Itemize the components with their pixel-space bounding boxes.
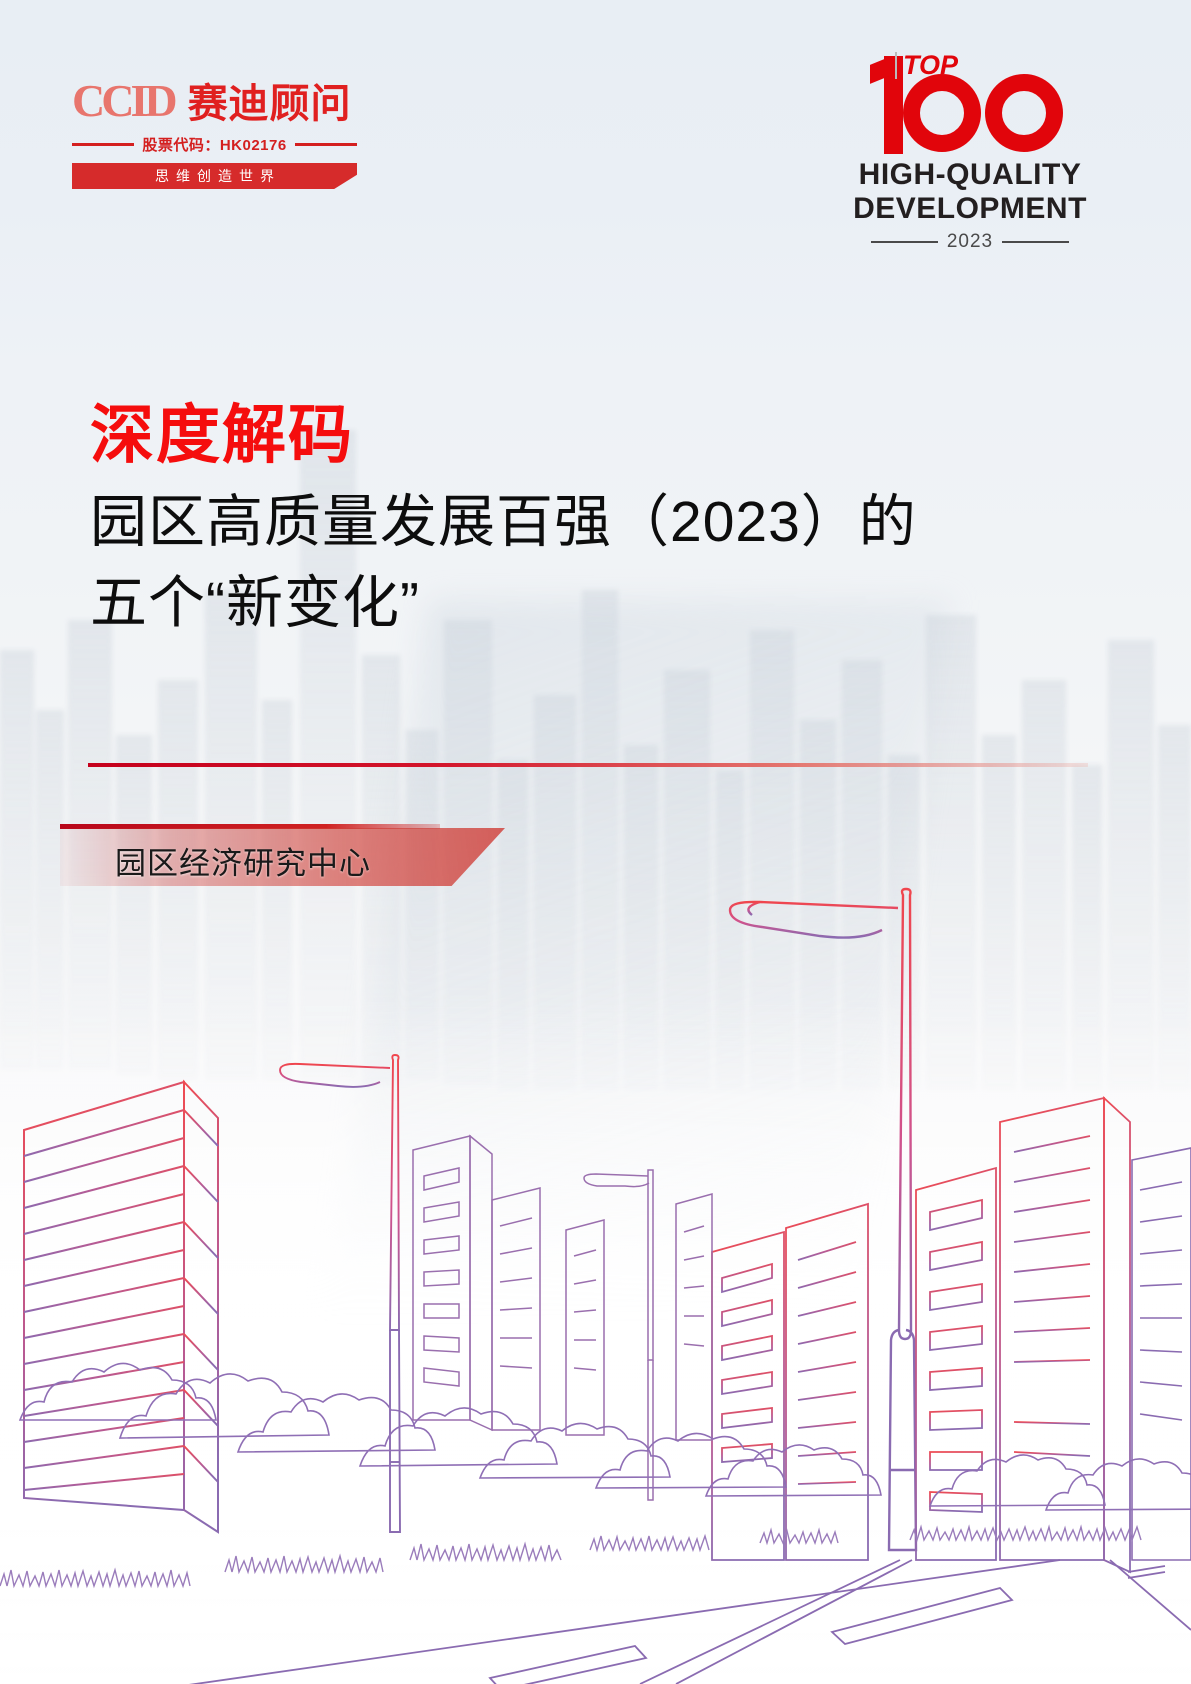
- cityscape-line-illustration: [0, 860, 1191, 1684]
- cover-title-block: 深度解码 园区高质量发展百强（2023）的 五个“新变化”: [90, 398, 1100, 644]
- buildings-far-right: [1132, 1148, 1191, 1560]
- ccid-latin-wordmark: CCID: [72, 78, 174, 124]
- logo-slogan-banner: 思维创造世界: [72, 163, 357, 189]
- badge-line-development: DEVELOPMENT: [845, 192, 1095, 226]
- street-lamp-medium-base: [390, 1330, 400, 1532]
- rule-right: [295, 143, 357, 146]
- badge-digit-zero-second: [985, 74, 1063, 152]
- street-lamp-large: [730, 889, 911, 1339]
- grass-line: [0, 1527, 1141, 1586]
- street-lamp-medium: [280, 1055, 399, 1330]
- stock-code-label: 股票代码：HK02176: [142, 134, 286, 155]
- logo-wordmark-row: CCID 赛迪顾问: [72, 78, 372, 124]
- road: [0, 1560, 1191, 1684]
- title-divider: [88, 763, 1088, 767]
- ccid-chinese-wordmark: 赛迪顾问: [188, 84, 352, 124]
- badge-number-group: TOP: [845, 48, 1095, 158]
- page-subtitle-line-1: 园区高质量发展百强（2023）的: [90, 482, 1100, 563]
- page-title-highlight: 深度解码: [90, 398, 1100, 472]
- top100-badge: TOP HIGH-QUALITY DEVELOPMENT 2023: [845, 48, 1095, 253]
- rule-left: [72, 143, 134, 146]
- badge-year-label: 2023: [947, 231, 993, 253]
- stock-code-row: 股票代码：HK02176: [72, 134, 357, 155]
- tower-left: [24, 1082, 218, 1532]
- report-cover-page: CCID 赛迪顾问 股票代码：HK02176 思维创造世界 TOP HIGH-Q…: [0, 0, 1191, 1684]
- cover-header: CCID 赛迪顾问 股票代码：HK02176 思维创造世界 TOP HIGH-Q…: [0, 0, 1191, 250]
- buildings-midground: [413, 1136, 712, 1440]
- shrub-row: [20, 1363, 1191, 1510]
- badge-line-high-quality: HIGH-QUALITY: [845, 158, 1095, 192]
- badge-rule-left: [871, 241, 938, 243]
- ccid-logo: CCID 赛迪顾问 股票代码：HK02176 思维创造世界: [72, 78, 372, 189]
- badge-digit-zero-first: [903, 74, 981, 152]
- buildings-right-cluster: [712, 1098, 1130, 1572]
- badge-rule-right: [1002, 241, 1069, 243]
- street-lamp-large-base: [889, 1330, 916, 1550]
- page-subtitle-line-2: 五个“新变化”: [90, 563, 1100, 644]
- badge-year-row: 2023: [845, 231, 1095, 253]
